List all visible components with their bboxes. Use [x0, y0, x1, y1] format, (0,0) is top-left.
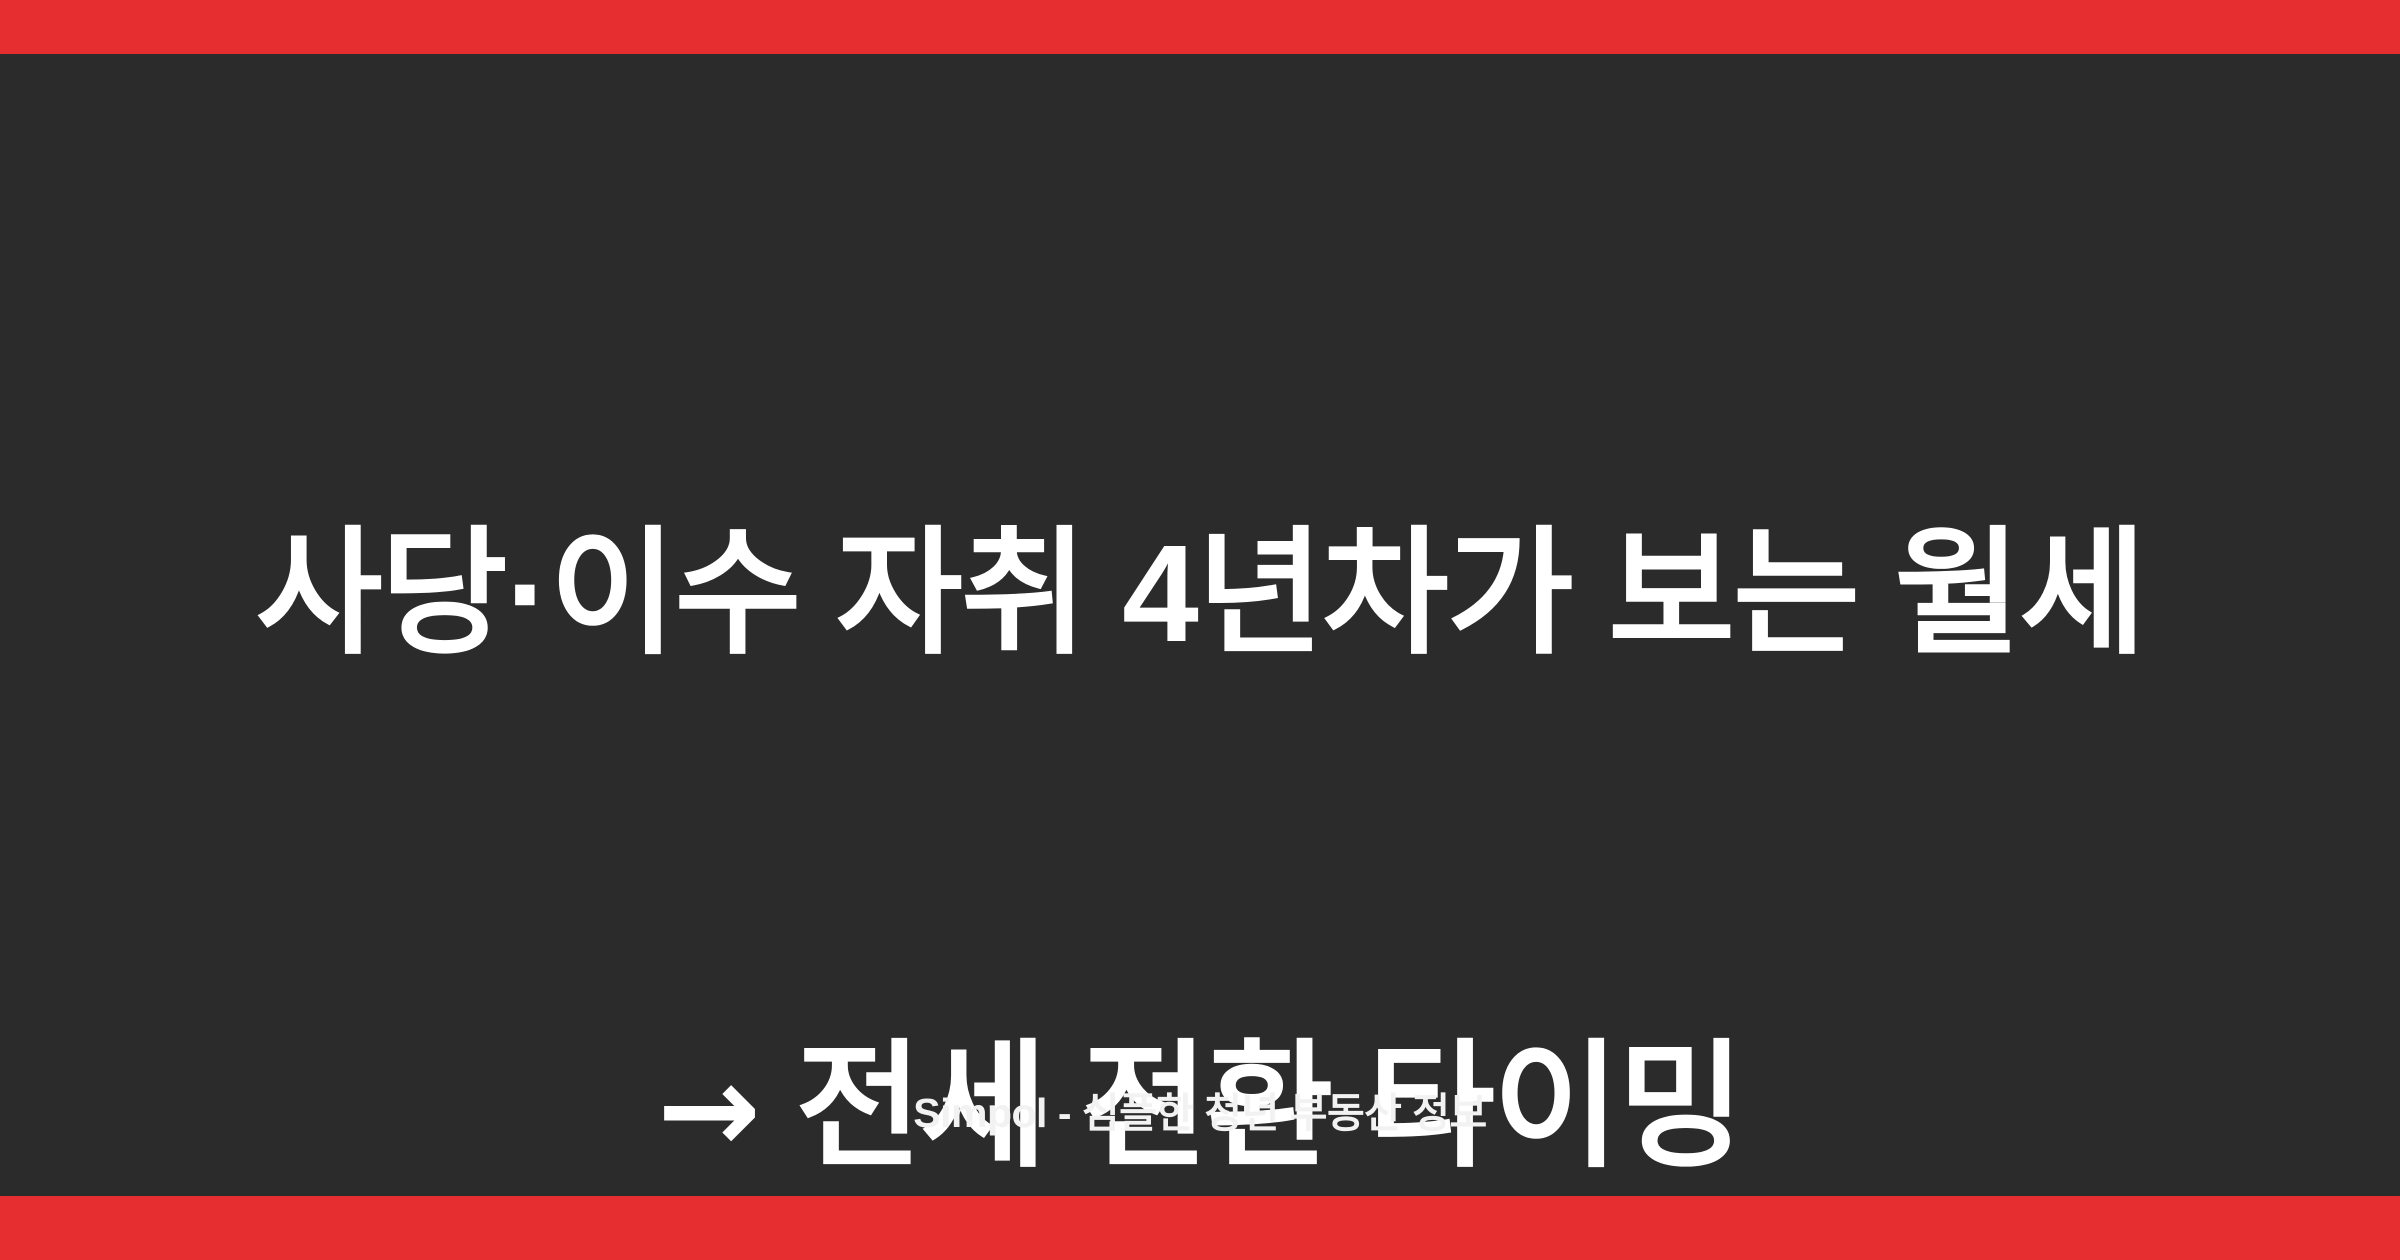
slide-body: 사당·이수 자취 4년차가 보는 월세 → 전세 전환 타이밍 Simpol -… — [0, 54, 2400, 1196]
brand-footer: Simpol - 심플한 청년 부동산 정보 — [0, 1089, 2400, 1138]
brand-tagline: Simpol - 심플한 청년 부동산 정보 — [913, 1089, 1486, 1138]
headline-line-2: → 전세 전환 타이밍 — [120, 853, 2280, 1192]
top-accent-bar — [0, 0, 2400, 54]
headline-line-1: 사당·이수 자취 4년차가 보는 월세 — [120, 510, 2280, 680]
title-slide: 사당·이수 자취 4년차가 보는 월세 → 전세 전환 타이밍 Simpol -… — [0, 0, 2400, 1260]
